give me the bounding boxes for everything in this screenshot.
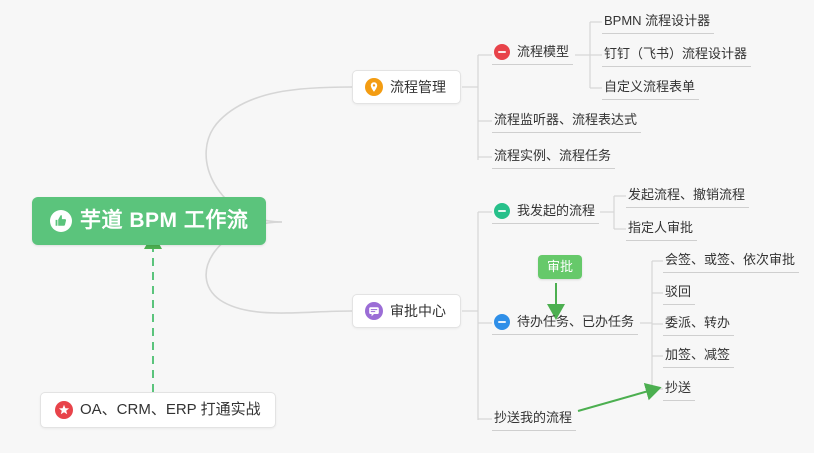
node-custom-form-label: 自定义流程表单: [604, 78, 695, 96]
node-todo-done-tasks[interactable]: 待办任务、已办任务: [492, 313, 638, 335]
node-bpmn-designer-label: BPMN 流程设计器: [604, 12, 710, 30]
location-pin-icon: [365, 78, 383, 96]
node-my-initiated-label: 我发起的流程: [517, 202, 595, 220]
node-assign-approver-label: 指定人审批: [628, 219, 693, 237]
node-cc-to-me[interactable]: 抄送我的流程: [492, 409, 576, 431]
node-add-remove-sign[interactable]: 加签、减签: [663, 346, 734, 368]
node-my-initiated[interactable]: 我发起的流程: [492, 202, 599, 224]
callout-approval-label: 审批: [547, 259, 573, 274]
branch-label-approval-center: 审批中心: [390, 294, 446, 328]
node-instance-task[interactable]: 流程实例、流程任务: [492, 147, 615, 169]
node-add-remove-sign-label: 加签、减签: [665, 346, 730, 364]
node-instance-task-label: 流程实例、流程任务: [494, 147, 611, 165]
node-bpmn-designer[interactable]: BPMN 流程设计器: [602, 12, 714, 34]
thumbs-up-icon: [50, 210, 72, 232]
callout-integration-label: OA、CRM、ERP 打通实战: [80, 392, 261, 428]
node-delegate-transfer-label: 委派、转办: [665, 314, 730, 332]
minus-circle-icon: [494, 314, 510, 330]
node-process-model-label: 流程模型: [517, 43, 569, 61]
node-todo-done-tasks-label: 待办任务、已办任务: [517, 313, 634, 331]
node-custom-form[interactable]: 自定义流程表单: [602, 78, 699, 100]
node-start-cancel-process[interactable]: 发起流程、撤销流程: [626, 186, 749, 208]
branch-node-approval-center[interactable]: 审批中心: [352, 294, 461, 328]
node-reject-label: 驳回: [665, 283, 691, 301]
mindmap-canvas: 芋道 BPM 工作流 流程管理 流程模型 BPMN 流程设计器 钉钉（飞书）流程…: [0, 0, 814, 453]
node-cc-label: 抄送: [665, 379, 691, 397]
node-cc[interactable]: 抄送: [663, 379, 695, 401]
node-countersign-label: 会签、或签、依次审批: [665, 251, 795, 269]
node-listener-expression[interactable]: 流程监听器、流程表达式: [492, 111, 641, 133]
node-countersign[interactable]: 会签、或签、依次审批: [663, 251, 799, 273]
node-assign-approver[interactable]: 指定人审批: [626, 219, 697, 241]
node-dingtalk-designer[interactable]: 钉钉（飞书）流程设计器: [602, 45, 751, 67]
chat-bubble-icon: [365, 302, 383, 320]
branch-label-process-management: 流程管理: [390, 70, 446, 104]
node-process-model[interactable]: 流程模型: [492, 43, 573, 65]
minus-circle-icon: [494, 44, 510, 60]
node-listener-expression-label: 流程监听器、流程表达式: [494, 111, 637, 129]
branch-node-process-management[interactable]: 流程管理: [352, 70, 461, 104]
minus-circle-icon: [494, 203, 510, 219]
root-node-label: 芋道 BPM 工作流: [80, 197, 248, 245]
node-delegate-transfer[interactable]: 委派、转办: [663, 314, 734, 336]
star-badge-icon: [55, 401, 73, 419]
callout-integration-card[interactable]: OA、CRM、ERP 打通实战: [40, 392, 276, 428]
root-node[interactable]: 芋道 BPM 工作流: [32, 197, 266, 245]
node-start-cancel-process-label: 发起流程、撤销流程: [628, 186, 745, 204]
node-cc-to-me-label: 抄送我的流程: [494, 409, 572, 427]
callout-approval-box: 审批: [538, 255, 582, 279]
node-dingtalk-designer-label: 钉钉（飞书）流程设计器: [604, 45, 747, 63]
node-reject[interactable]: 驳回: [663, 283, 695, 305]
